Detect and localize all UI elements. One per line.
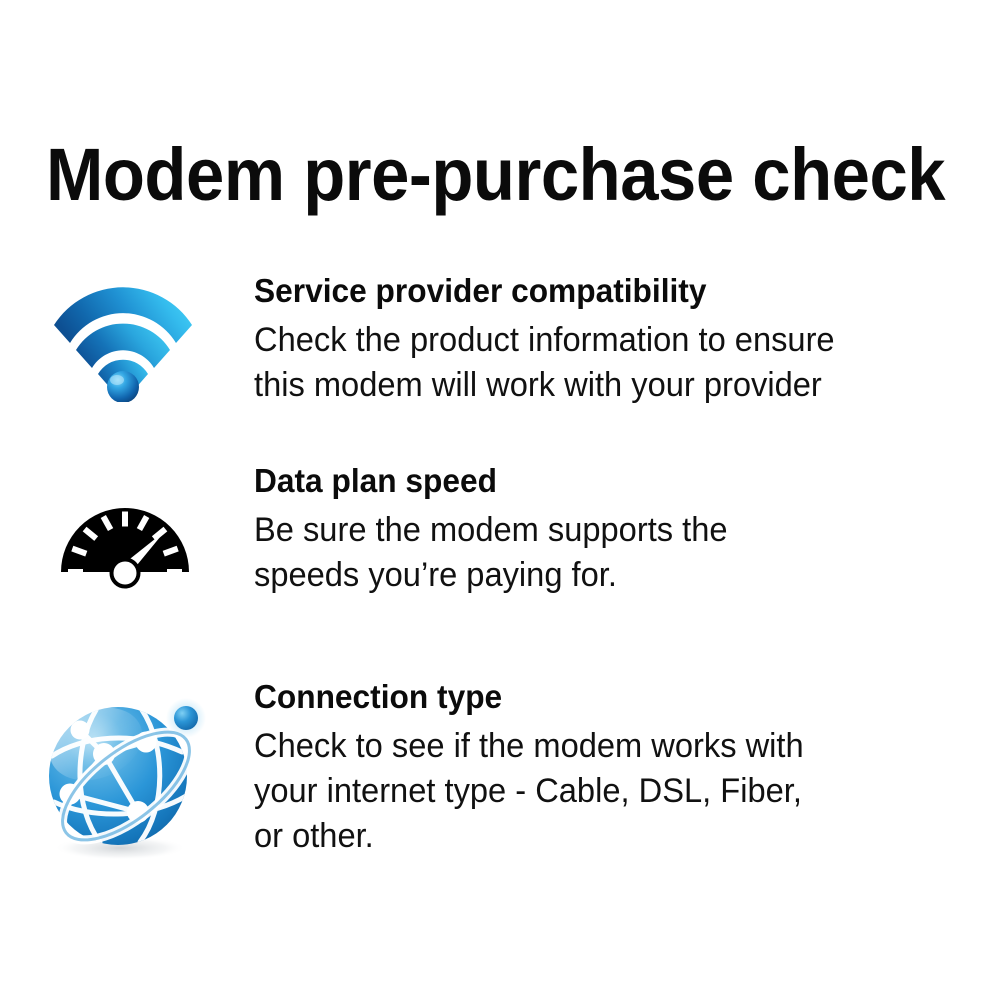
page-title: Modem pre-purchase check (46, 136, 902, 214)
item-body-line: your internet type - Cable, DSL, Fiber, (254, 769, 936, 814)
globe-orbit-dot (174, 706, 198, 730)
speedometer-gauge-icon (58, 500, 192, 598)
checklist-item-text: Service provider compatibility Check the… (254, 272, 964, 408)
gauge-hub (112, 560, 139, 587)
item-body-line: or other. (254, 814, 936, 859)
item-body-line: Check to see if the modem works with (254, 724, 936, 769)
item-heading: Data plan speed (254, 462, 936, 500)
item-body-line: Be sure the modem supports the (254, 508, 936, 553)
item-body-line: Check the product information to ensure (254, 318, 936, 363)
item-body: Check to see if the modem works with you… (254, 724, 936, 859)
item-body: Be sure the modem supports the speeds yo… (254, 508, 936, 598)
network-globe-icon (34, 690, 222, 862)
wifi-signal-icon (48, 280, 198, 402)
infographic-canvas: Modem pre-purchase check (0, 0, 1000, 1000)
item-heading: Service provider compatibility (254, 272, 936, 310)
wifi-origin-dot (107, 371, 139, 402)
item-body-line: this modem will work with your provider (254, 363, 936, 408)
item-body: Check the product information to ensure … (254, 318, 936, 408)
item-heading: Connection type (254, 678, 936, 716)
checklist-item-text: Connection type Check to see if the mode… (254, 678, 964, 859)
checklist-item-text: Data plan speed Be sure the modem suppor… (254, 462, 964, 598)
item-body-line: speeds you’re paying for. (254, 553, 936, 598)
